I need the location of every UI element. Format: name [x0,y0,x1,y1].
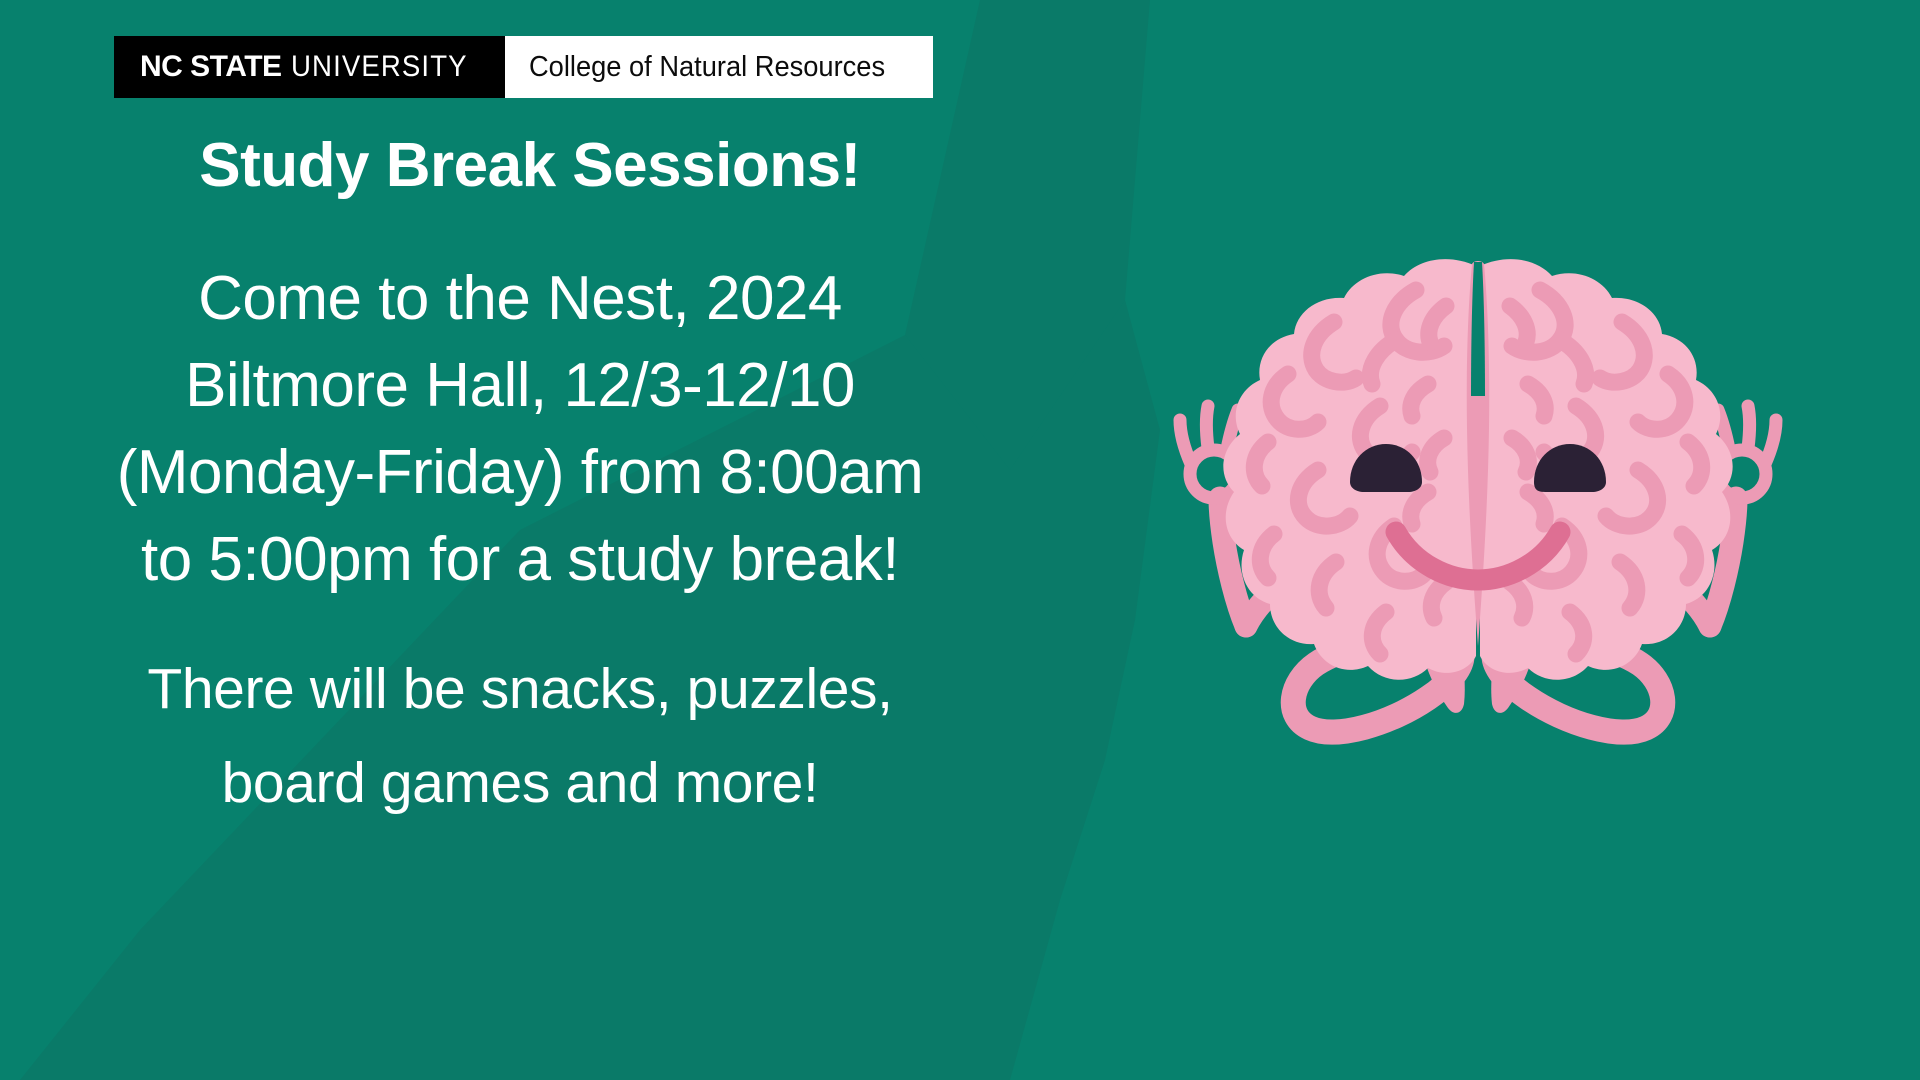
brain-body [1223,259,1732,680]
event-details-line: Come to the Nest, 2024 [0,255,1040,342]
nc-state-logo-lockup: NC STATE UNIVERSITY College of Natural R… [114,36,933,98]
poster-canvas: NC STATE UNIVERSITY College of Natural R… [0,0,1920,1080]
event-details-line: (Monday-Friday) from 8:00am [0,429,1040,516]
event-details-line: Biltmore Hall, 12/3-12/10 [0,342,1040,429]
logo-college-label: College of Natural Resources [529,53,885,82]
logo-college-block: College of Natural Resources [505,36,934,98]
event-details-line: to 5:00pm for a study break! [0,516,1040,603]
logo-brand-light: UNIVERSITY [291,52,468,82]
page-title: Study Break Sessions! [0,133,1060,200]
meditating-brain-illustration [1128,246,1828,766]
logo-wordmark-block: NC STATE UNIVERSITY [114,36,505,98]
event-activities-text: There will be snacks, puzzles, board gam… [0,642,1040,830]
event-activities-line: There will be snacks, puzzles, [0,642,1040,736]
logo-brand-bold: NC STATE [140,52,282,82]
event-activities-line: board games and more! [0,736,1040,830]
event-details-text: Come to the Nest, 2024 Biltmore Hall, 12… [0,255,1040,603]
